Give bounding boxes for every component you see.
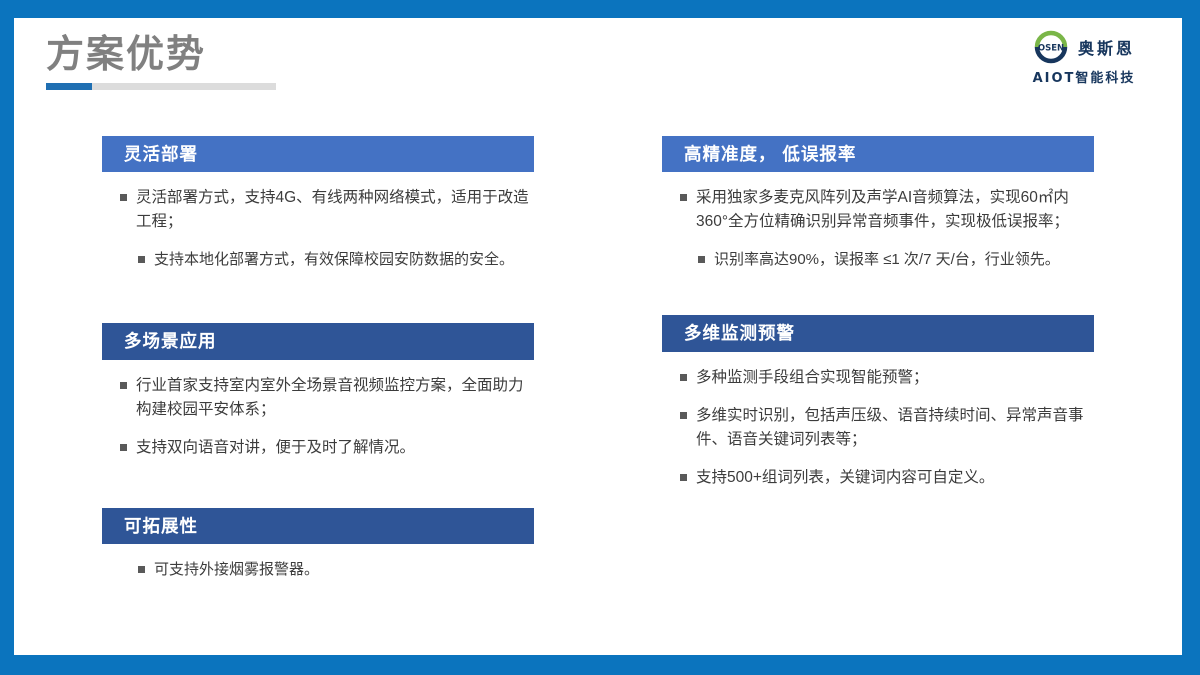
- section-extensibility: 可拓展性 可支持外接烟雾报警器。: [102, 508, 534, 581]
- square-bullet-icon: [138, 256, 145, 263]
- page-title-block: 方案优势: [46, 36, 646, 76]
- list-item-text: 支持本地化部署方式，有效保障校园安防数据的安全。: [154, 251, 514, 268]
- company-logo: OSEN 奥斯恩 AIOT智能科技: [1004, 26, 1164, 88]
- bullet-list: 多种监测手段组合实现智能预警； 多维实时识别，包括声压级、语音持续时间、异常声音…: [662, 366, 1094, 490]
- list-item-text: 采用独家多麦克风阵列及声学AI音频算法，实现60㎡内360°全方位精确识别异常音…: [696, 189, 1069, 230]
- square-bullet-icon: [680, 474, 687, 481]
- list-item-text: 行业首家支持室内室外全场景音视频监控方案，全面助力构建校园平安体系；: [136, 377, 524, 418]
- list-item: 多维实时识别，包括声压级、语音持续时间、异常声音事件、语音关键词列表等；: [662, 404, 1094, 452]
- list-item-text: 多维实时识别，包括声压级、语音持续时间、异常声音事件、语音关键词列表等；: [696, 407, 1084, 448]
- section-header: 高精准度， 低误报率: [662, 136, 1094, 172]
- list-item: 灵活部署方式，支持4G、有线两种网络模式，适用于改造工程；: [102, 186, 534, 234]
- bullet-list: 行业首家支持室内室外全场景音视频监控方案，全面助力构建校园平安体系； 支持双向语…: [102, 374, 534, 460]
- section-header: 灵活部署: [102, 136, 534, 172]
- list-item-text: 支持双向语音对讲，便于及时了解情况。: [136, 439, 415, 456]
- bullet-list: 灵活部署方式，支持4G、有线两种网络模式，适用于改造工程； 支持本地化部署方式，…: [102, 186, 534, 271]
- list-item: 行业首家支持室内室外全场景音视频监控方案，全面助力构建校园平安体系；: [102, 374, 534, 422]
- bullet-list: 可支持外接烟雾报警器。: [102, 558, 534, 581]
- title-underline: [46, 83, 276, 90]
- right-column: 高精准度， 低误报率 采用独家多麦克风阵列及声学AI音频算法，实现60㎡内360…: [662, 136, 1094, 490]
- square-bullet-icon: [698, 256, 705, 263]
- square-bullet-icon: [680, 194, 687, 201]
- section-multi-dimensional-alert: 多维监测预警 多种监测手段组合实现智能预警； 多维实时识别，包括声压级、语音持续…: [662, 315, 1094, 489]
- logo-subtitle-text: AIOT智能科技: [1033, 67, 1136, 86]
- list-item-text: 灵活部署方式，支持4G、有线两种网络模式，适用于改造工程；: [136, 189, 529, 230]
- slide-root: 方案优势 OSEN 奥斯恩 AIOT智能科技 灵活部署 灵活部署方式，支: [0, 0, 1200, 675]
- section-header: 可拓展性: [102, 508, 534, 544]
- square-bullet-icon: [120, 444, 127, 451]
- square-bullet-icon: [120, 382, 127, 389]
- section-flexible-deployment: 灵活部署 灵活部署方式，支持4G、有线两种网络模式，适用于改造工程； 支持本地化…: [102, 136, 534, 271]
- osen-ring-icon: OSEN: [1033, 29, 1069, 65]
- section-header: 多维监测预警: [662, 315, 1094, 351]
- list-item: 采用独家多麦克风阵列及声学AI音频算法，实现60㎡内360°全方位精确识别异常音…: [662, 186, 1094, 234]
- square-bullet-icon: [680, 374, 687, 381]
- left-column: 灵活部署 灵活部署方式，支持4G、有线两种网络模式，适用于改造工程； 支持本地化…: [102, 136, 534, 581]
- section-multi-scenario: 多场景应用 行业首家支持室内室外全场景音视频监控方案，全面助力构建校园平安体系；…: [102, 323, 534, 459]
- square-bullet-icon: [680, 412, 687, 419]
- list-item: 可支持外接烟雾报警器。: [102, 558, 534, 581]
- section-high-accuracy: 高精准度， 低误报率 采用独家多麦克风阵列及声学AI音频算法，实现60㎡内360…: [662, 136, 1094, 271]
- list-item-text: 可支持外接烟雾报警器。: [154, 561, 319, 578]
- bullet-list: 采用独家多麦克风阵列及声学AI音频算法，实现60㎡内360°全方位精确识别异常音…: [662, 186, 1094, 271]
- list-item: 多种监测手段组合实现智能预警；: [662, 366, 1094, 390]
- list-item-text: 识别率高达90%，误报率 ≤1 次/7 天/台，行业领先。: [714, 251, 1060, 268]
- list-item-text: 支持500+组词列表，关键词内容可自定义。: [696, 469, 994, 486]
- svg-text:OSEN: OSEN: [1038, 43, 1064, 53]
- list-item-text: 多种监测手段组合实现智能预警；: [696, 369, 929, 386]
- section-header: 多场景应用: [102, 323, 534, 359]
- list-item: 支持双向语音对讲，便于及时了解情况。: [102, 436, 534, 460]
- page-title: 方案优势: [46, 36, 646, 76]
- square-bullet-icon: [120, 194, 127, 201]
- list-item: 支持500+组词列表，关键词内容可自定义。: [662, 466, 1094, 490]
- logo-brand-text: 奥斯恩: [1078, 35, 1135, 59]
- title-underline-accent: [46, 83, 92, 90]
- list-item: 支持本地化部署方式，有效保障校园安防数据的安全。: [102, 248, 534, 271]
- square-bullet-icon: [138, 566, 145, 573]
- logo-top-row: OSEN 奥斯恩: [1033, 29, 1135, 65]
- list-item: 识别率高达90%，误报率 ≤1 次/7 天/台，行业领先。: [662, 248, 1094, 271]
